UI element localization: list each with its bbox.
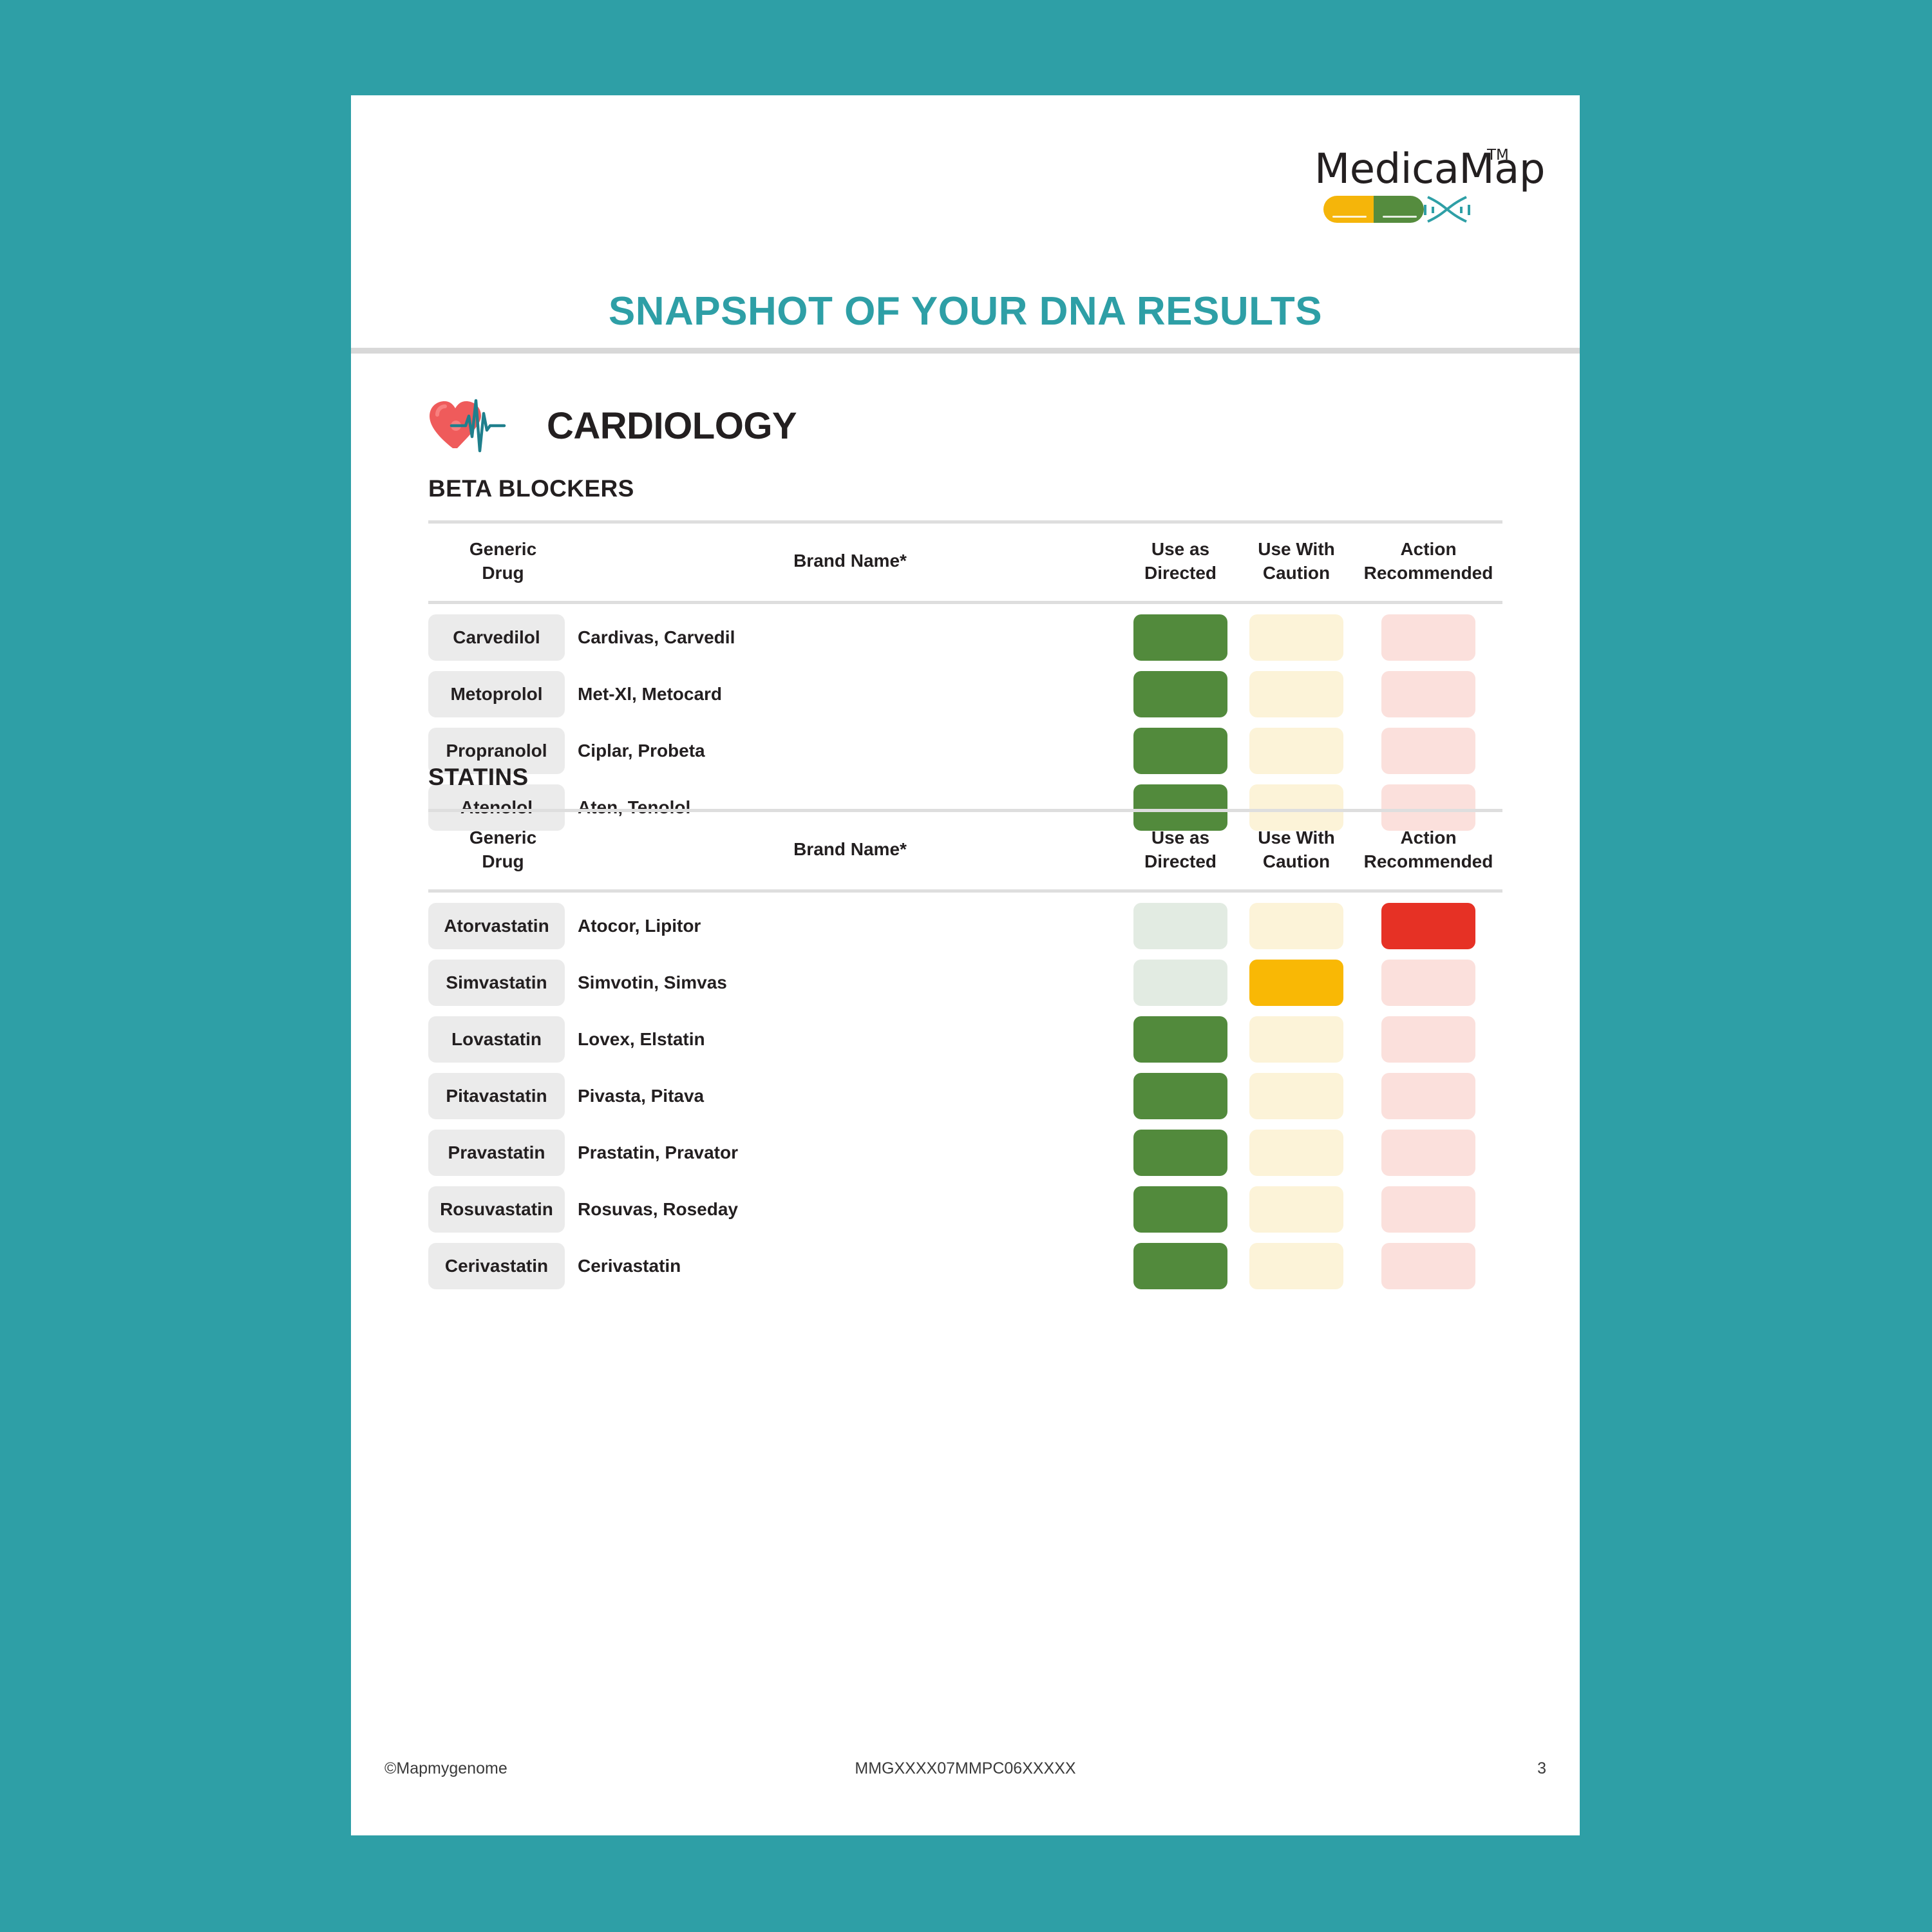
action-recommended-swatch [1381,1186,1475,1233]
table-row: MetoprololMet-Xl, Metocard [428,671,1502,717]
action-recommended-swatch-cell [1354,960,1502,1006]
heart-pulse-icon [428,398,538,453]
action-recommended-swatch [1381,1243,1475,1289]
use-with-caution-swatch [1249,1243,1343,1289]
action-recommended-swatch-cell [1354,1243,1502,1289]
table-row: RosuvastatinRosuvas, Roseday [428,1186,1502,1233]
table-header-row: GenericDrugBrand Name*Use asDirectedUse … [428,520,1502,604]
brand-name-cell: Ciplar, Probeta [578,741,705,761]
use-with-caution-swatch-cell [1238,614,1354,661]
table-row: LovastatinLovex, Elstatin [428,1016,1502,1063]
brand-name-cell: Prastatin, Pravator [578,1142,738,1163]
use-as-directed-swatch-cell [1122,1130,1238,1176]
use-with-caution-swatch-cell [1238,960,1354,1006]
brand-name-cell: Pivasta, Pitava [578,1086,704,1106]
action-recommended-swatch [1381,1073,1475,1119]
use-with-caution-swatch [1249,903,1343,949]
action-recommended-swatch [1381,671,1475,717]
column-header-use-with-caution: Use WithCaution [1238,826,1354,874]
action-recommended-swatch-cell [1354,671,1502,717]
drug-class-section: STATINSGenericDrugBrand Name*Use asDirec… [428,764,1502,1289]
use-as-directed-swatch [1133,1016,1227,1063]
column-header-brand-name: Brand Name* [578,838,1122,862]
action-recommended-swatch-cell [1354,1186,1502,1233]
action-recommended-swatch [1381,903,1475,949]
action-recommended-swatch [1381,960,1475,1006]
use-as-directed-swatch [1133,1243,1227,1289]
brand-name-cell: Simvotin, Simvas [578,972,727,993]
action-recommended-swatch-cell [1354,1073,1502,1119]
pill-capsule-icon [1323,196,1424,223]
footer-page-number: 3 [1537,1759,1546,1778]
brand-name-cell-wrap: Rosuvas, Roseday [578,1186,1122,1233]
drug-class-title: STATINS [428,764,1502,791]
use-as-directed-swatch-cell [1122,1186,1238,1233]
page-footer: ©Mapmygenome MMGXXXX07MMPC06XXXXX 3 [351,1759,1580,1785]
use-with-caution-swatch [1249,614,1343,661]
action-recommended-swatch-cell [1354,614,1502,661]
column-header-use-as-directed: Use asDirected [1122,538,1238,585]
brand-name-cell-wrap: Met-Xl, Metocard [578,671,1122,717]
column-header-use-with-caution: Use WithCaution [1238,538,1354,585]
generic-drug-cell: Pravastatin [428,1130,565,1176]
logo-wordmark: MedicaMap [1314,146,1545,193]
generic-drug-cell: Lovastatin [428,1016,565,1063]
medicamap-logo: MedicaMap TM [1314,146,1546,236]
table-row: CarvedilolCardivas, Carvedil [428,614,1502,661]
use-as-directed-swatch-cell [1122,903,1238,949]
generic-drug-cell: Pitavastatin [428,1073,565,1119]
generic-drug-cell: Carvedilol [428,614,565,661]
brand-name-cell-wrap: Pivasta, Pitava [578,1073,1122,1119]
table-row: PitavastatinPivasta, Pitava [428,1073,1502,1119]
use-as-directed-swatch-cell [1122,1243,1238,1289]
generic-drug-cell: Metoprolol [428,671,565,717]
use-with-caution-swatch-cell [1238,1243,1354,1289]
use-with-caution-swatch-cell [1238,671,1354,717]
use-as-directed-swatch-cell [1122,960,1238,1006]
action-recommended-swatch-cell [1354,903,1502,949]
header-divider [351,348,1580,354]
brand-name-cell: Lovex, Elstatin [578,1029,705,1050]
brand-name-cell-wrap: Lovex, Elstatin [578,1016,1122,1063]
use-as-directed-swatch [1133,671,1227,717]
dna-helix-icon [1417,193,1477,225]
use-with-caution-swatch [1249,1073,1343,1119]
action-recommended-swatch-cell [1354,1016,1502,1063]
specialty-header: CARDIOLOGY [428,398,797,453]
brand-name-cell: Atocor, Lipitor [578,916,701,936]
use-as-directed-swatch-cell [1122,1073,1238,1119]
use-with-caution-swatch [1249,1130,1343,1176]
brand-name-cell: Cardivas, Carvedil [578,627,735,648]
brand-name-cell-wrap: Cardivas, Carvedil [578,614,1122,661]
use-with-caution-swatch-cell [1238,903,1354,949]
use-with-caution-swatch [1249,1186,1343,1233]
column-header-generic-drug: GenericDrug [428,538,578,585]
use-with-caution-swatch-cell [1238,1186,1354,1233]
use-with-caution-swatch-cell [1238,1016,1354,1063]
generic-drug-cell: Atorvastatin [428,903,565,949]
use-as-directed-swatch-cell [1122,671,1238,717]
brand-name-cell: Met-Xl, Metocard [578,684,722,705]
column-header-use-as-directed: Use asDirected [1122,826,1238,874]
table-row: CerivastatinCerivastatin [428,1243,1502,1289]
use-as-directed-swatch [1133,614,1227,661]
brand-name-cell-wrap: Simvotin, Simvas [578,960,1122,1006]
use-as-directed-swatch [1133,960,1227,1006]
generic-drug-cell: Rosuvastatin [428,1186,565,1233]
use-with-caution-swatch [1249,671,1343,717]
brand-name-cell-wrap: Prastatin, Pravator [578,1130,1122,1176]
use-with-caution-swatch [1249,960,1343,1006]
column-header-brand-name: Brand Name* [578,549,1122,573]
use-as-directed-swatch [1133,1186,1227,1233]
action-recommended-swatch [1381,1130,1475,1176]
use-as-directed-swatch-cell [1122,614,1238,661]
column-header-action-recommended: ActionRecommended [1354,538,1502,585]
table-row: AtorvastatinAtocor, Lipitor [428,903,1502,949]
brand-name-cell-wrap: Atocor, Lipitor [578,903,1122,949]
generic-drug-cell: Cerivastatin [428,1243,565,1289]
trademark-symbol: TM [1487,147,1509,164]
use-as-directed-swatch [1133,1073,1227,1119]
use-with-caution-swatch-cell [1238,1130,1354,1176]
specialty-label: CARDIOLOGY [547,404,797,448]
brand-name-cell: Rosuvas, Roseday [578,1199,738,1220]
use-as-directed-swatch [1133,1130,1227,1176]
action-recommended-swatch [1381,1016,1475,1063]
page-title: SNAPSHOT OF YOUR DNA RESULTS [351,289,1580,334]
drug-class-title: BETA BLOCKERS [428,475,1502,502]
use-as-directed-swatch [1133,903,1227,949]
table-row: PravastatinPrastatin, Pravator [428,1130,1502,1176]
footer-document-code: MMGXXXX07MMPC06XXXXX [351,1759,1580,1778]
table-header-row: GenericDrugBrand Name*Use asDirectedUse … [428,809,1502,893]
brand-name-cell: Cerivastatin [578,1256,681,1276]
column-header-action-recommended: ActionRecommended [1354,826,1502,874]
use-with-caution-swatch [1249,1016,1343,1063]
action-recommended-swatch-cell [1354,1130,1502,1176]
report-page: MedicaMap TM SNAPSHOT OF YOUR DNA RESULT… [351,95,1580,1835]
use-as-directed-swatch-cell [1122,1016,1238,1063]
table-row: SimvastatinSimvotin, Simvas [428,960,1502,1006]
brand-name-cell-wrap: Cerivastatin [578,1243,1122,1289]
use-with-caution-swatch-cell [1238,1073,1354,1119]
generic-drug-cell: Simvastatin [428,960,565,1006]
column-header-generic-drug: GenericDrug [428,826,578,874]
action-recommended-swatch [1381,614,1475,661]
